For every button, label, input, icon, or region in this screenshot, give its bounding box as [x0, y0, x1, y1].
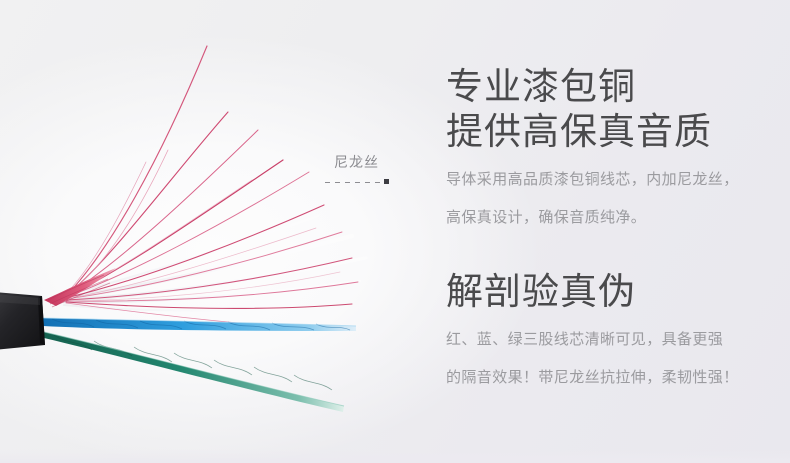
block1-body-line2: 高保真设计，确保音质纯净。: [446, 205, 776, 230]
block2-body-line1: 红、蓝、绿三股线芯清晰可见，具备更强: [446, 327, 776, 352]
blue-braided-conductor: [43, 318, 356, 331]
block1-heading-line2: 提供高保真音质: [446, 109, 776, 154]
square-marker-icon: [384, 179, 389, 184]
green-braided-conductor: [44, 332, 344, 412]
cable-outer-jacket: [0, 292, 45, 350]
block1-heading-line1: 专业漆包铜: [446, 64, 776, 109]
feature-block-authenticity: 解剖验真伪 红、蓝、绿三股线芯清晰可见，具备更强 的隔音效果！带尼龙丝抗拉伸，柔…: [446, 269, 776, 390]
feature-block-copper: 专业漆包铜 提供高保真音质 导体采用高品质漆包铜线芯，内加尼龙丝， 高保真设计，…: [446, 64, 776, 230]
block1-body-line1: 导体采用高品质漆包铜线芯，内加尼龙丝，: [446, 167, 776, 192]
dashed-leader-line-icon: [325, 182, 383, 183]
callout-label: 尼龙丝: [334, 153, 379, 171]
block2-heading-line1: 解剖验真伪: [446, 269, 776, 314]
product-feature-banner: 尼龙丝 专业漆包铜 提供高保真音质 导体采用高品质漆包铜线芯，内加尼龙丝， 高保…: [0, 0, 790, 463]
callout-nylon-thread: 尼龙丝: [334, 153, 379, 171]
white-nylon-threads: [63, 216, 366, 311]
block2-body-line2: 的隔音效果！带尼龙丝抗拉伸，柔韧性强！: [446, 365, 776, 390]
